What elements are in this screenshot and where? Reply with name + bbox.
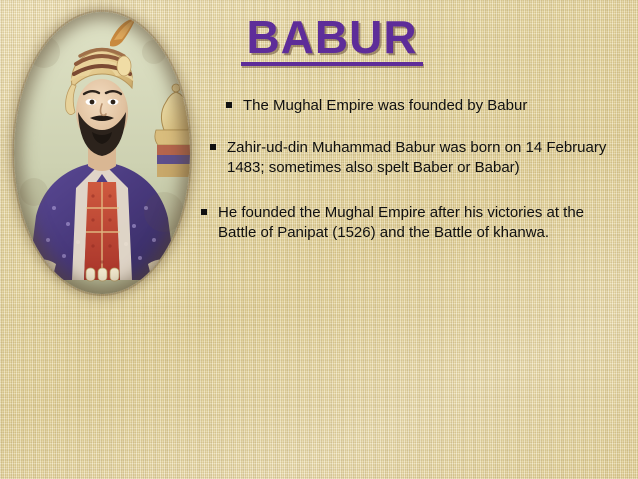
slide-body: The Mughal Empire was founded by Babur Z… bbox=[0, 96, 638, 243]
square-bullet-icon bbox=[201, 209, 207, 215]
bullet-item-1: The Mughal Empire was founded by Babur bbox=[226, 96, 598, 116]
presentation-slide: BABUR The Mughal Empire was founded by B… bbox=[0, 0, 638, 479]
bullet-text-2: Zahir-ud-din Muhammad Babur was born on … bbox=[227, 138, 614, 178]
bullet-text-1: The Mughal Empire was founded by Babur bbox=[243, 96, 598, 116]
bullet-item-3: He founded the Mughal Empire after his v… bbox=[201, 203, 610, 243]
bullet-item-2: Zahir-ud-din Muhammad Babur was born on … bbox=[210, 138, 614, 178]
square-bullet-icon bbox=[226, 102, 232, 108]
square-bullet-icon bbox=[210, 144, 216, 150]
bullet-text-3: He founded the Mughal Empire after his v… bbox=[218, 203, 610, 243]
slide-title-block: BABUR bbox=[214, 14, 450, 66]
page-title: BABUR bbox=[214, 14, 450, 61]
